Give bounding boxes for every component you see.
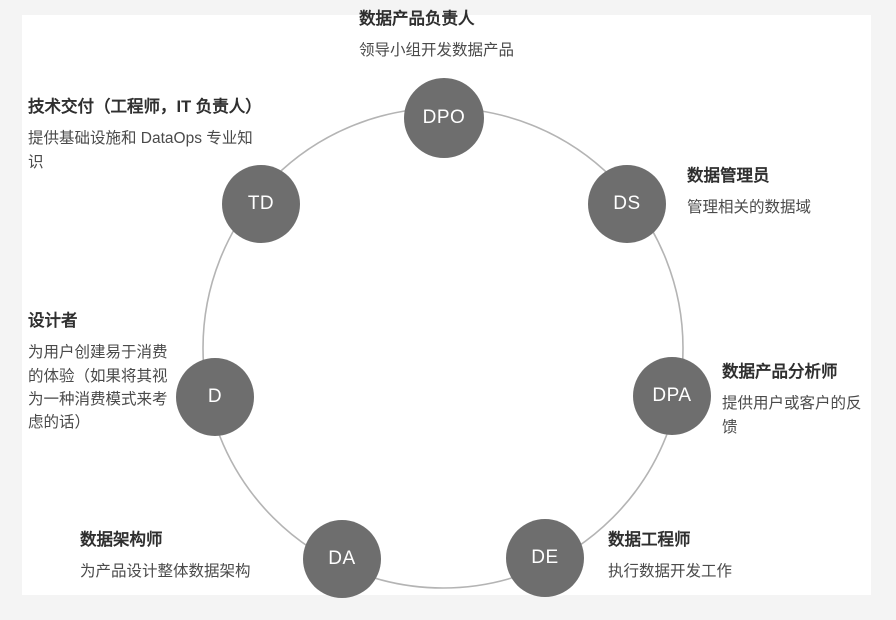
- label-td-desc: 提供基础设施和 DataOps 专业知识: [28, 127, 258, 174]
- label-d-desc: 为用户创建易于消费的体验（如果将其视为一种消费模式来考虑的话）: [28, 341, 168, 434]
- label-ds-title: 数据管理员: [687, 165, 811, 187]
- label-dpo: 数据产品负责人 领导小组开发数据产品: [359, 8, 514, 63]
- node-da-abbr: DA: [328, 548, 355, 570]
- label-de: 数据工程师 执行数据开发工作: [608, 529, 732, 584]
- label-d: 设计者 为用户创建易于消费的体验（如果将其视为一种消费模式来考虑的话）: [28, 310, 168, 434]
- node-d[interactable]: D: [176, 358, 254, 436]
- label-de-desc: 执行数据开发工作: [608, 560, 732, 583]
- label-td-title: 技术交付（工程师，IT 负责人）: [28, 96, 258, 118]
- label-ds-desc: 管理相关的数据域: [687, 196, 811, 219]
- label-dpa-desc: 提供用户或客户的反馈: [722, 392, 874, 439]
- label-dpo-title: 数据产品负责人: [359, 8, 514, 30]
- node-dpa-abbr: DPA: [652, 385, 691, 407]
- node-td[interactable]: TD: [222, 165, 300, 243]
- diagram-canvas: DPO 数据产品负责人 领导小组开发数据产品 DS 数据管理员 管理相关的数据域…: [0, 0, 896, 620]
- node-da[interactable]: DA: [303, 520, 381, 598]
- node-ds-abbr: DS: [613, 193, 640, 215]
- label-d-title: 设计者: [28, 310, 168, 332]
- label-dpa-title: 数据产品分析师: [722, 361, 874, 383]
- node-dpo[interactable]: DPO: [404, 78, 484, 158]
- label-td: 技术交付（工程师，IT 负责人） 提供基础设施和 DataOps 专业知识: [28, 96, 258, 174]
- node-td-abbr: TD: [248, 193, 274, 215]
- node-de[interactable]: DE: [506, 519, 584, 597]
- label-ds: 数据管理员 管理相关的数据域: [687, 165, 811, 220]
- label-dpo-desc: 领导小组开发数据产品: [359, 39, 514, 62]
- label-da: 数据架构师 为产品设计整体数据架构: [80, 529, 251, 584]
- label-da-title: 数据架构师: [80, 529, 251, 551]
- label-dpa: 数据产品分析师 提供用户或客户的反馈: [722, 361, 874, 439]
- node-dpa[interactable]: DPA: [633, 357, 711, 435]
- label-de-title: 数据工程师: [608, 529, 732, 551]
- node-dpo-abbr: DPO: [423, 107, 466, 129]
- label-da-desc: 为产品设计整体数据架构: [80, 560, 251, 583]
- node-d-abbr: D: [208, 386, 222, 408]
- node-ds[interactable]: DS: [588, 165, 666, 243]
- node-de-abbr: DE: [531, 547, 558, 569]
